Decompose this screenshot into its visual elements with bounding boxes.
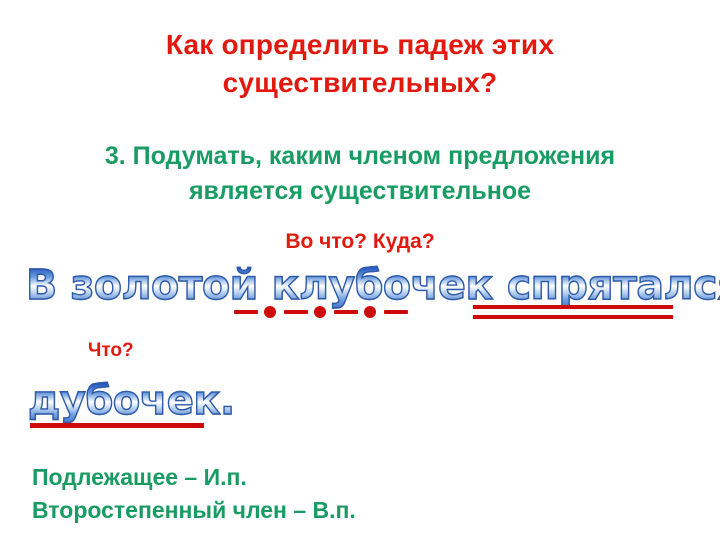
dash-dot-underline-mark <box>234 304 426 320</box>
question-lower: Что? <box>88 339 134 363</box>
dot-segment <box>264 306 276 318</box>
sentence-part-a: В золотой клубочек <box>26 261 493 309</box>
page-title: Как определить падеж этих существительны… <box>0 26 720 102</box>
title-line-2: существительных? <box>223 67 498 98</box>
conclusion-line-2: Второстепенный член – В.п. <box>32 494 356 527</box>
single-underline-mark <box>30 423 204 428</box>
slide-canvas: Как определить падеж этих существительны… <box>0 0 720 540</box>
conclusion-block: Подлежащее – И.п. Второстепенный член – … <box>32 461 356 527</box>
step-line-2: является существительное <box>0 174 720 209</box>
underline-bar-top <box>473 305 673 309</box>
double-underline-mark <box>473 303 673 321</box>
sentence-subject-word: дубочек. <box>28 378 235 424</box>
dash-segment <box>234 310 258 314</box>
dash-segment <box>334 310 358 314</box>
dash-segment <box>284 310 308 314</box>
step-line-1: 3. Подумать, каким членом предложения <box>105 142 615 170</box>
question-upper: Во что? Куда? <box>0 229 720 255</box>
underline-bar-bottom <box>473 315 673 319</box>
sentence-line-1: В золотой клубочекспрятался <box>26 261 694 309</box>
title-line-1: Как определить падеж этих <box>166 29 554 60</box>
sentence-line-2: дубочек. <box>28 378 235 424</box>
sentence-part-b: спрятался <box>507 261 720 309</box>
step-instruction: 3. Подумать, каким членом предложения яв… <box>0 139 720 209</box>
conclusion-line-1: Подлежащее – И.п. <box>32 461 356 494</box>
dot-segment <box>364 306 376 318</box>
dot-segment <box>314 306 326 318</box>
dash-segment <box>384 310 408 314</box>
